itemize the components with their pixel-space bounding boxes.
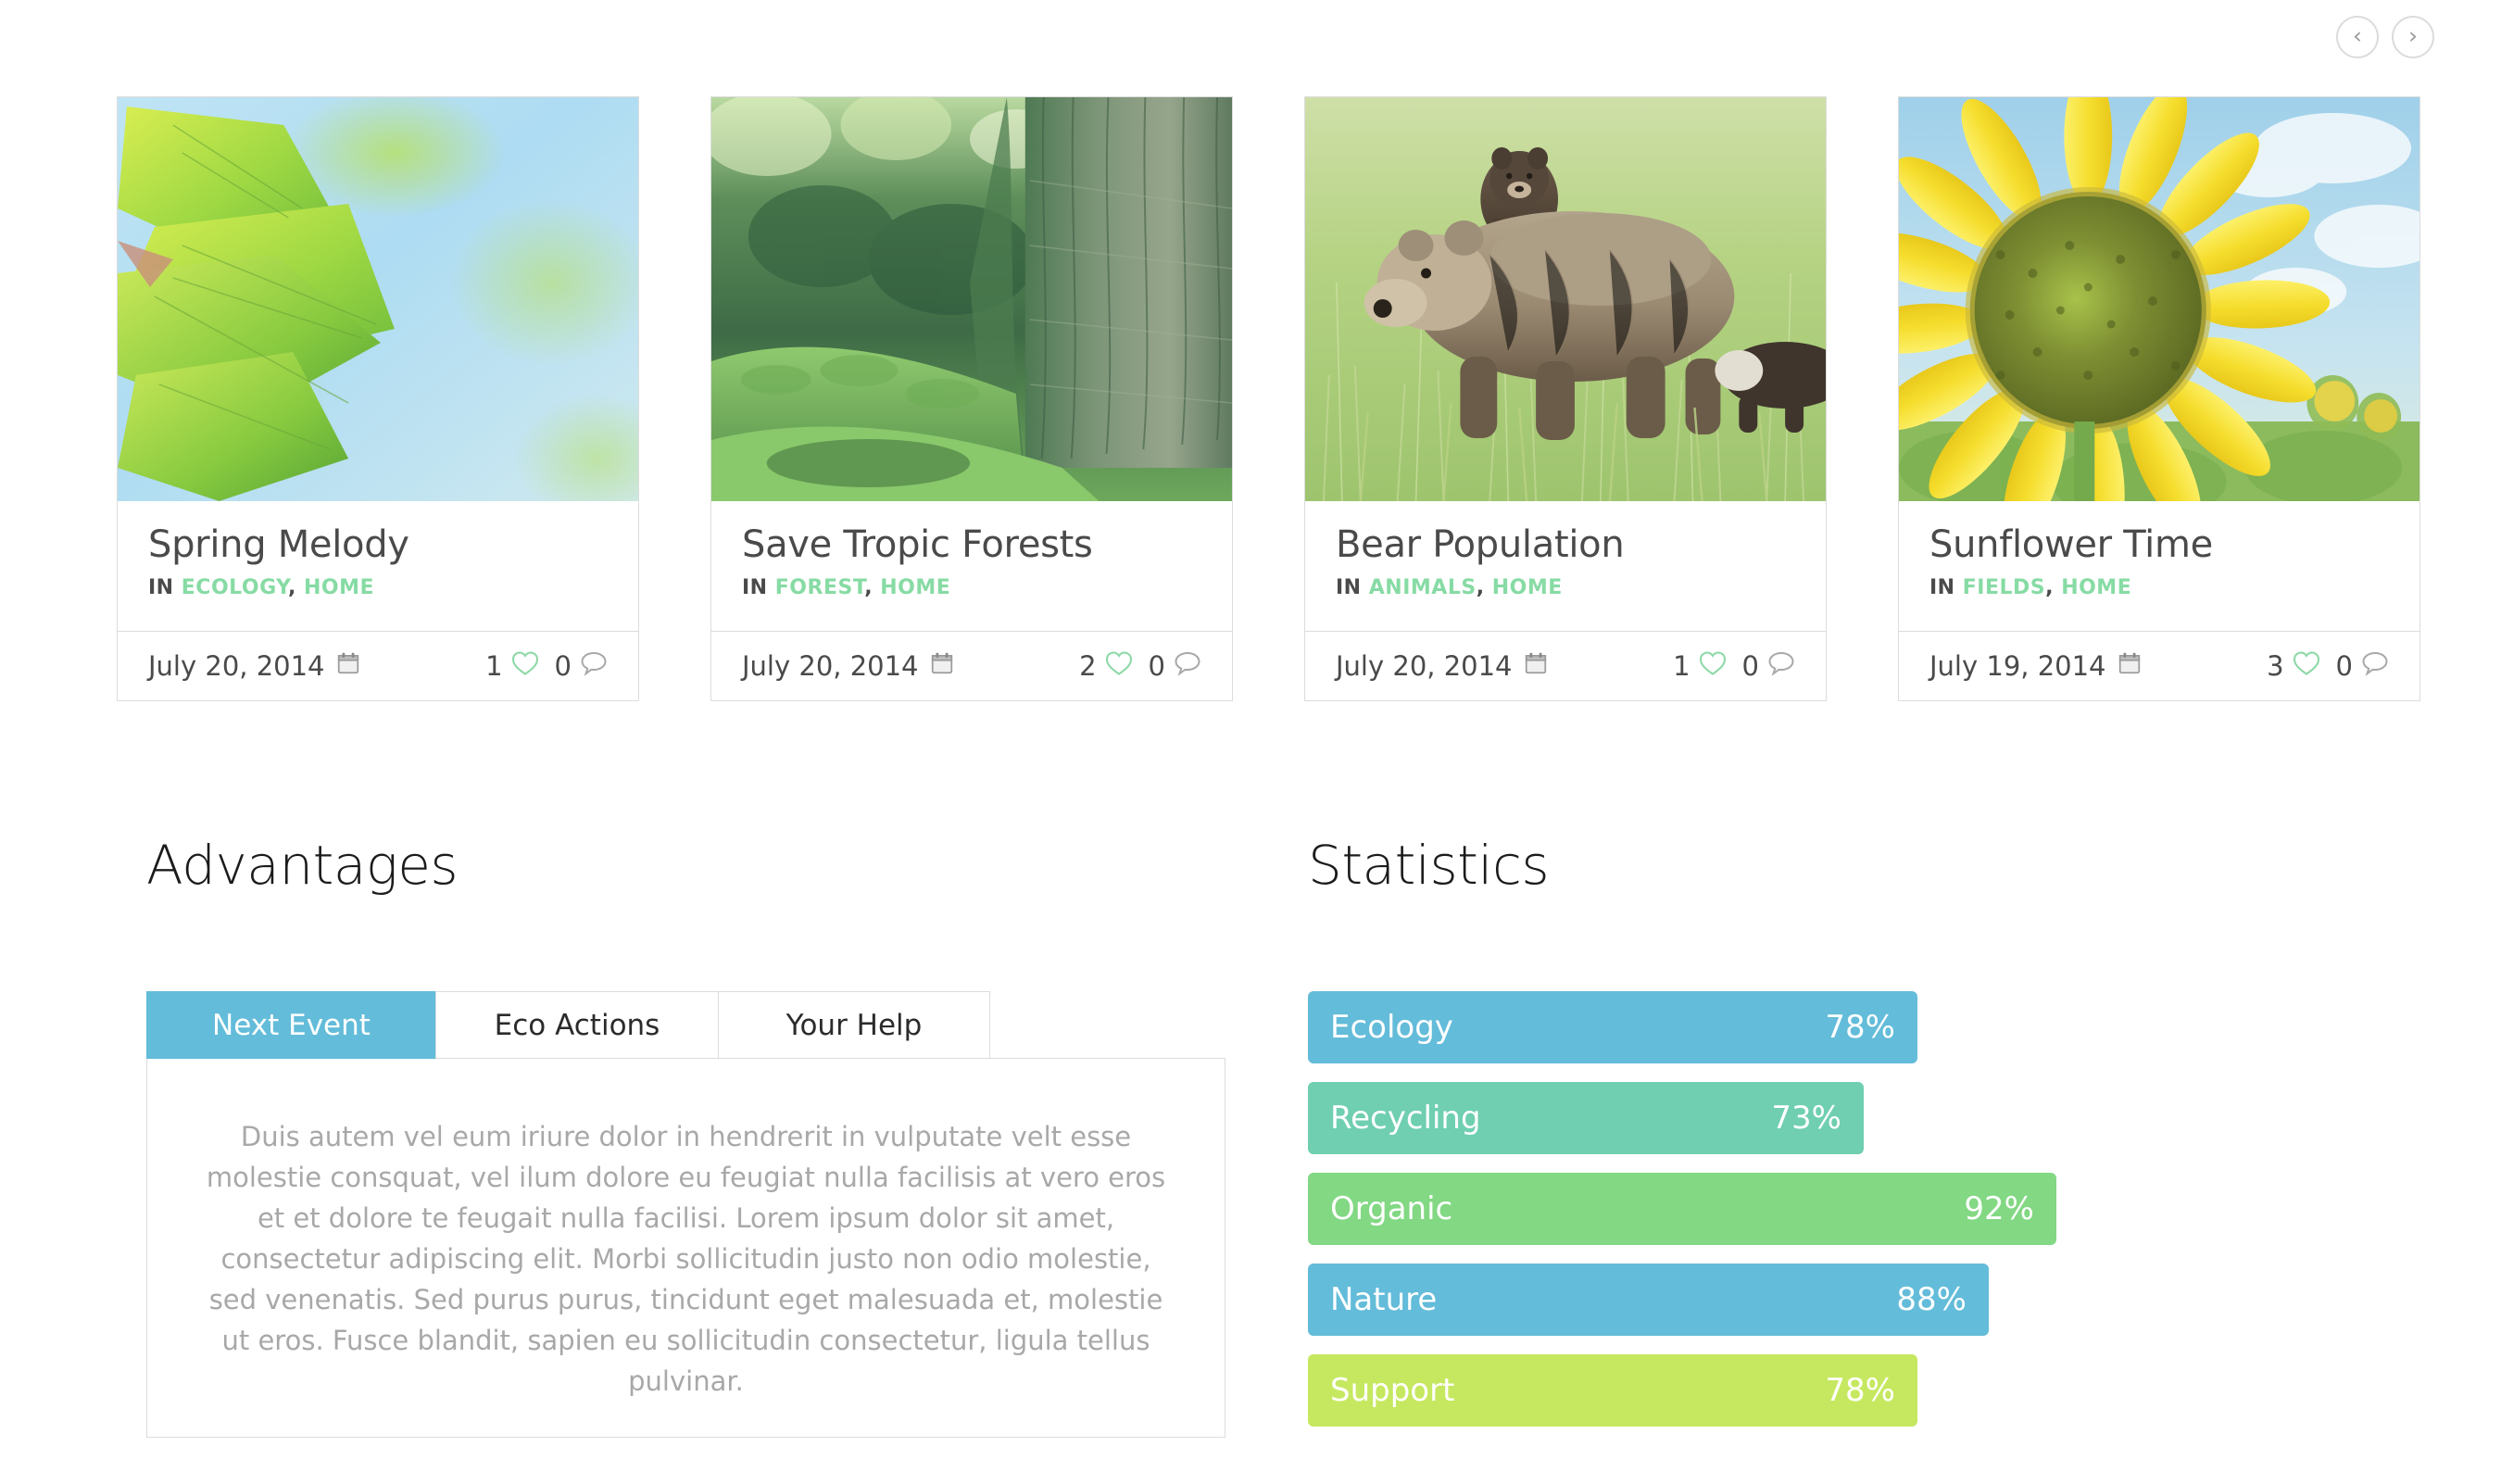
stat-bar-row: Support 78% bbox=[1308, 1354, 2373, 1427]
post-thumbnail-spring-melody[interactable] bbox=[118, 97, 638, 501]
category-link[interactable]: ECOLOGY bbox=[182, 576, 288, 599]
category-link[interactable]: FIELDS bbox=[1963, 576, 2045, 599]
category-separator: , bbox=[288, 576, 296, 599]
comment-count[interactable]: 0 bbox=[1742, 650, 1795, 683]
post-date-text: July 19, 2014 bbox=[1929, 650, 2106, 682]
stat-bar-ecology: Ecology 78% bbox=[1308, 991, 1917, 1063]
comment-icon[interactable] bbox=[2361, 650, 2389, 683]
category-link[interactable]: HOME bbox=[1492, 576, 1563, 599]
post-date: July 19, 2014 bbox=[1929, 650, 2142, 682]
category-link[interactable]: HOME bbox=[880, 576, 950, 599]
post-card-footer: July 19, 2014 3 bbox=[1899, 632, 2419, 700]
stat-bar-nature: Nature 88% bbox=[1308, 1264, 1989, 1336]
like-number: 3 bbox=[2267, 650, 2283, 682]
post-card-body: Save Tropic Forests IN FOREST, HOME bbox=[711, 501, 1232, 632]
post-card[interactable]: Sunflower Time IN FIELDS, HOME July 19, … bbox=[1898, 96, 2420, 701]
post-title[interactable]: Bear Population bbox=[1336, 525, 1795, 564]
calendar-icon bbox=[930, 650, 954, 682]
like-count[interactable]: 1 bbox=[1673, 650, 1726, 683]
post-card-body: Bear Population IN ANIMALS, HOME bbox=[1305, 501, 1826, 632]
post-thumbnail-bear-population[interactable] bbox=[1305, 97, 1826, 501]
calendar-icon bbox=[336, 650, 360, 682]
calendar-icon bbox=[1524, 650, 1548, 682]
like-count[interactable]: 2 bbox=[1079, 650, 1132, 683]
comment-number: 0 bbox=[555, 650, 572, 682]
post-card-footer: July 20, 2014 1 bbox=[1305, 632, 1826, 700]
category-separator: , bbox=[1477, 576, 1485, 599]
post-card-footer: July 20, 2014 2 bbox=[711, 632, 1232, 700]
tab-eco-actions[interactable]: Eco Actions bbox=[435, 991, 719, 1059]
post-card-body: Sunflower Time IN FIELDS, HOME bbox=[1899, 501, 2419, 632]
post-engagement: 2 0 bbox=[1079, 650, 1201, 683]
stat-bar-support: Support 78% bbox=[1308, 1354, 1917, 1427]
in-label: IN bbox=[1336, 576, 1362, 599]
post-categories: IN ANIMALS, HOME bbox=[1336, 576, 1795, 599]
heart-icon[interactable] bbox=[1105, 650, 1133, 683]
category-separator: , bbox=[2045, 576, 2054, 599]
post-card-footer: July 20, 2014 1 bbox=[118, 632, 638, 700]
category-separator: , bbox=[864, 576, 873, 599]
post-card[interactable]: Spring Melody IN ECOLOGY, HOME July 20, … bbox=[117, 96, 639, 701]
like-count[interactable]: 1 bbox=[485, 650, 538, 683]
post-date-text: July 20, 2014 bbox=[1336, 650, 1513, 682]
comment-count[interactable]: 0 bbox=[2336, 650, 2389, 683]
tab-next-event[interactable]: Next Event bbox=[146, 991, 436, 1059]
category-link[interactable]: ANIMALS bbox=[1369, 576, 1477, 599]
comment-icon[interactable] bbox=[1174, 650, 1201, 683]
in-label: IN bbox=[148, 576, 174, 599]
comment-number: 0 bbox=[2336, 650, 2353, 682]
in-label: IN bbox=[742, 576, 768, 599]
post-date: July 20, 2014 bbox=[1336, 650, 1548, 682]
tab-panel: Duis autem vel eum iriure dolor in hendr… bbox=[146, 1058, 1225, 1438]
post-thumbnail-save-tropic-forests[interactable] bbox=[711, 97, 1232, 501]
heart-icon[interactable] bbox=[2293, 650, 2320, 683]
stat-bar-row: Nature 88% bbox=[1308, 1264, 2373, 1336]
carousel-prev-button[interactable]: ‹ bbox=[2336, 16, 2379, 58]
like-number: 1 bbox=[485, 650, 502, 682]
calendar-icon bbox=[2118, 650, 2142, 682]
comment-count[interactable]: 0 bbox=[1149, 650, 1201, 683]
advantages-tabs: Next Event Eco Actions Your Help Duis au… bbox=[146, 991, 1225, 1438]
tab-panel-text: Duis autem vel eum iriure dolor in hendr… bbox=[203, 1116, 1169, 1402]
category-link[interactable]: HOME bbox=[2061, 576, 2131, 599]
comment-icon[interactable] bbox=[1767, 650, 1795, 683]
stat-bar-label: Ecology bbox=[1330, 1009, 1453, 1046]
tab-your-help[interactable]: Your Help bbox=[718, 991, 990, 1059]
comment-number: 0 bbox=[1149, 650, 1165, 682]
stat-bar-value: 78% bbox=[1825, 1009, 1895, 1046]
stat-bar-label: Nature bbox=[1330, 1281, 1437, 1318]
statistics-bars: Ecology 78% Recycling 73% Organic 92% Na… bbox=[1308, 991, 2373, 1445]
category-link[interactable]: FOREST bbox=[775, 576, 864, 599]
post-engagement: 1 0 bbox=[485, 650, 608, 683]
post-engagement: 3 0 bbox=[2267, 650, 2389, 683]
stat-bar-value: 88% bbox=[1896, 1281, 1967, 1318]
like-count[interactable]: 3 bbox=[2267, 650, 2319, 683]
post-categories: IN FOREST, HOME bbox=[742, 576, 1201, 599]
stat-bar-row: Organic 92% bbox=[1308, 1173, 2373, 1245]
comment-number: 0 bbox=[1742, 650, 1759, 682]
like-number: 2 bbox=[1079, 650, 1096, 682]
heart-icon[interactable] bbox=[511, 650, 539, 683]
post-engagement: 1 0 bbox=[1673, 650, 1795, 683]
like-number: 1 bbox=[1673, 650, 1690, 682]
post-date: July 20, 2014 bbox=[742, 650, 954, 682]
stat-bar-row: Ecology 78% bbox=[1308, 991, 2373, 1063]
category-link[interactable]: HOME bbox=[304, 576, 374, 599]
stat-bar-recycling: Recycling 73% bbox=[1308, 1082, 1864, 1154]
stat-bar-organic: Organic 92% bbox=[1308, 1173, 2056, 1245]
post-date-text: July 20, 2014 bbox=[742, 650, 919, 682]
page-root: ‹ › bbox=[0, 0, 2501, 1484]
comment-icon[interactable] bbox=[580, 650, 608, 683]
in-label: IN bbox=[1929, 576, 1955, 599]
post-categories: IN FIELDS, HOME bbox=[1929, 576, 2389, 599]
carousel-nav: ‹ › bbox=[2336, 16, 2434, 58]
post-thumbnail-sunflower-time[interactable] bbox=[1899, 97, 2419, 501]
carousel-next-button[interactable]: › bbox=[2392, 16, 2434, 58]
stat-bar-value: 78% bbox=[1825, 1372, 1895, 1409]
stat-bar-value: 73% bbox=[1771, 1100, 1841, 1137]
post-cards-row: Spring Melody IN ECOLOGY, HOME July 20, … bbox=[117, 96, 2420, 701]
stat-bar-value: 92% bbox=[1964, 1190, 2034, 1227]
stat-bar-label: Organic bbox=[1330, 1190, 1452, 1227]
post-title[interactable]: Sunflower Time bbox=[1929, 525, 2389, 564]
post-card[interactable]: Bear Population IN ANIMALS, HOME July 20… bbox=[1304, 96, 1827, 701]
post-card[interactable]: Save Tropic Forests IN FOREST, HOME July… bbox=[710, 96, 1233, 701]
post-date-text: July 20, 2014 bbox=[148, 650, 325, 682]
tab-strip: Next Event Eco Actions Your Help bbox=[146, 991, 1225, 1059]
post-title[interactable]: Spring Melody bbox=[148, 525, 608, 564]
post-date: July 20, 2014 bbox=[148, 650, 360, 682]
stat-bar-row: Recycling 73% bbox=[1308, 1082, 2373, 1154]
post-title[interactable]: Save Tropic Forests bbox=[742, 525, 1201, 564]
post-card-body: Spring Melody IN ECOLOGY, HOME bbox=[118, 501, 638, 632]
heart-icon[interactable] bbox=[1699, 650, 1727, 683]
statistics-heading: Statistics bbox=[1308, 834, 1549, 897]
advantages-heading: Advantages bbox=[146, 834, 458, 897]
post-categories: IN ECOLOGY, HOME bbox=[148, 576, 608, 599]
stat-bar-label: Support bbox=[1330, 1372, 1454, 1409]
comment-count[interactable]: 0 bbox=[555, 650, 608, 683]
stat-bar-label: Recycling bbox=[1330, 1100, 1481, 1137]
